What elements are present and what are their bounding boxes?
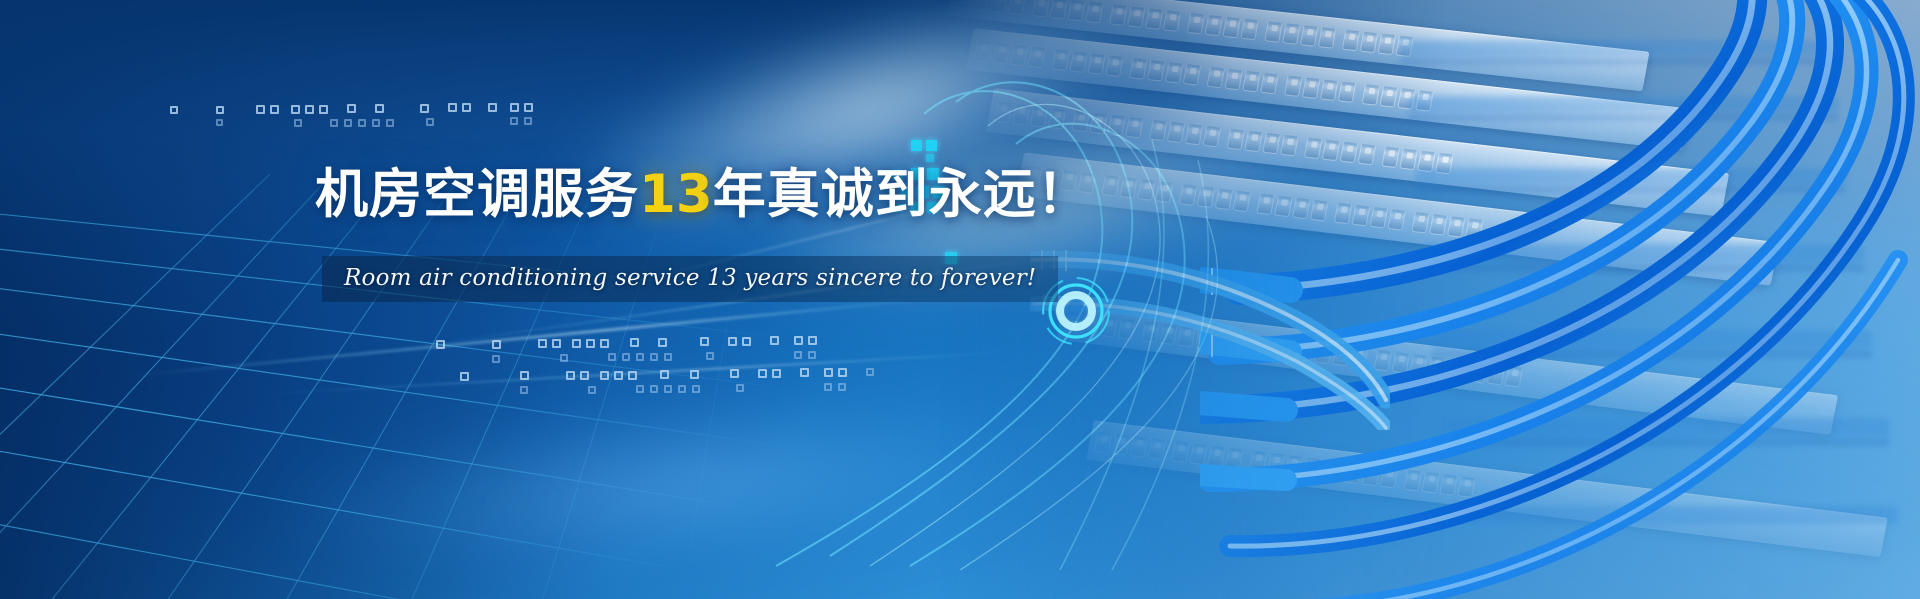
hero-banner: 机房空调服务13年真诚到永远！ Room air conditioning se… xyxy=(0,0,1920,599)
square-dot-row-bottom xyxy=(0,0,920,90)
headline-lead: 机房空调服务 xyxy=(315,164,639,225)
subtitle-band: Room air conditioning service 13 years s… xyxy=(322,256,1058,302)
headline-number: 13 xyxy=(639,164,713,225)
headline-tail: 年真诚到永远！ xyxy=(713,164,1091,225)
page-title: 机房空调服务13年真诚到永远！ xyxy=(315,168,1091,221)
subtitle-text: Room air conditioning service 13 years s… xyxy=(344,265,1036,291)
